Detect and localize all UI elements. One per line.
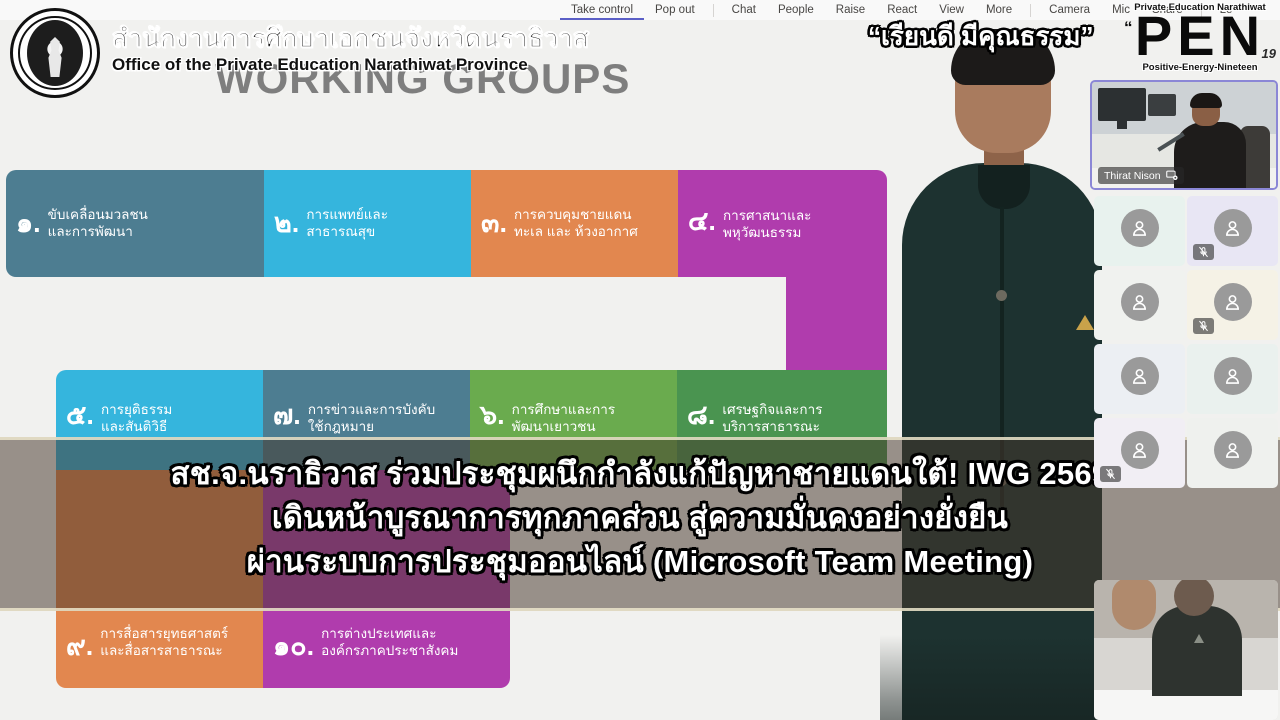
participant-video-tile[interactable] xyxy=(1094,580,1278,720)
pen-logo-superscript: 19 xyxy=(1262,46,1276,61)
presenter-cutout-image xyxy=(880,35,1110,720)
organization-name-english: Office of the Private Education Narathiw… xyxy=(112,55,528,75)
person-avatar-icon xyxy=(1214,283,1252,321)
caption-line-1: สช.จ.นราธิวาส ร่วมประชุมผนึกกำลังแก้ปัญห… xyxy=(0,452,1280,496)
working-group-label: การสื่อสารยุทธศาสตร์ และสื่อสารสาธารณะ xyxy=(100,626,228,660)
caption-text: สช.จ.นราธิวาส ร่วมประชุมผนึกกำลังแก้ปัญห… xyxy=(0,452,1280,584)
participant-tile[interactable] xyxy=(1094,196,1185,266)
working-group-number: ๓. xyxy=(481,210,507,237)
active-speaker-name-badge: Thirat Nison xyxy=(1098,167,1184,184)
thai-government-seal-icon xyxy=(10,8,100,98)
working-group-number: ๘. xyxy=(687,402,715,429)
slide-whitespace xyxy=(6,277,786,370)
caption-line-2: เดินหน้าบูรณาการทุกภาคส่วน สู่ความมั่นคง… xyxy=(0,496,1280,540)
organization-banner: สำนักงานการศึกษาเอกชนจังหวัดนราธิวาส Off… xyxy=(0,0,680,104)
working-group-number: ๔. xyxy=(688,208,716,235)
working-group-number: ๒. xyxy=(274,210,299,237)
slogan-text: “เรียนดี มีคุณธรรม” xyxy=(868,16,1094,57)
working-group-label: การต่างประเทศและ องค์กรภาคประชาสังคม xyxy=(321,626,458,660)
working-group-label: การยุติธรรม และสันติวิธี xyxy=(101,402,172,436)
mic-muted-icon xyxy=(1100,466,1121,482)
organization-name-thai: สำนักงานการศึกษาเอกชนจังหวัดนราธิวาส xyxy=(112,18,589,59)
meeting-stage: WORKING GROUPS ๑. ขับเคลื่อนมวลชน และการ… xyxy=(0,0,1280,720)
participant-tile[interactable] xyxy=(1094,418,1185,488)
working-group-number: ๑๐. xyxy=(273,633,314,660)
pen-logo-bottom-text: Positive-Energy-Nineteen xyxy=(1122,62,1278,73)
active-speaker-tile[interactable]: Thirat Nison xyxy=(1090,80,1278,190)
mic-muted-icon xyxy=(1193,318,1214,334)
participant-tile[interactable] xyxy=(1094,270,1185,340)
people-button[interactable]: People xyxy=(767,0,825,20)
working-group-number: ๗. xyxy=(273,402,301,429)
participant-tile[interactable] xyxy=(1187,270,1278,340)
working-group-label: การควบคุมชายแดน ทะเล และ ห้วงอากาศ xyxy=(514,207,638,241)
participant-tile[interactable] xyxy=(1187,196,1278,266)
toolbar-divider xyxy=(713,4,714,17)
active-speaker-name: Thirat Nison xyxy=(1104,170,1161,182)
working-group-label: การแพทย์และ สาธารณสุข xyxy=(306,207,388,241)
participants-rail: Thirat Nison xyxy=(1090,80,1280,720)
pen-logo: Private Education Narathiwat PEN “ 19 Po… xyxy=(1122,2,1278,80)
person-avatar-icon xyxy=(1214,431,1252,469)
person-avatar-icon xyxy=(1121,357,1159,395)
working-group-label: ขับเคลื่อนมวลชน และการพัฒนา xyxy=(48,207,148,241)
working-group-tile[interactable]: ๓. การควบคุมชายแดน ทะเล และ ห้วงอากาศ xyxy=(471,170,678,277)
person-avatar-icon xyxy=(1121,431,1159,469)
working-group-label: เศรษฐกิจและการ บริการสาธารณะ xyxy=(722,402,822,436)
working-group-number: ๑. xyxy=(16,210,41,237)
working-group-number: ๕. xyxy=(66,402,94,429)
person-avatar-icon xyxy=(1214,209,1252,247)
chat-button[interactable]: Chat xyxy=(721,0,767,20)
working-group-tile[interactable]: ๑. ขับเคลื่อนมวลชน และการพัฒนา xyxy=(6,170,264,277)
working-group-label: การศึกษาและการ พัฒนาเยาวชน xyxy=(512,402,615,436)
working-group-label: การข่าวและการบังคับ ใช้กฎหมาย xyxy=(308,402,435,436)
pen-logo-main-text: PEN xyxy=(1122,8,1278,64)
toolbar-divider xyxy=(1030,4,1031,17)
working-group-number: ๖. xyxy=(480,402,505,429)
working-group-label: การศาสนาและ พหุวัฒนธรรม xyxy=(723,208,811,242)
caption-line-3: ผ่านระบบการประชุมออนไลน์ (Microsoft Team… xyxy=(0,540,1280,584)
mic-muted-icon xyxy=(1193,244,1214,260)
pen-logo-quote-mark: “ xyxy=(1124,18,1133,38)
screen-share-icon xyxy=(1166,170,1178,181)
participant-tile[interactable] xyxy=(1187,418,1278,488)
person-avatar-icon xyxy=(1121,209,1159,247)
person-avatar-icon xyxy=(1121,283,1159,321)
person-avatar-icon xyxy=(1214,357,1252,395)
working-group-number: ๙. xyxy=(66,633,93,660)
participant-tile[interactable] xyxy=(1187,344,1278,414)
participant-tile[interactable] xyxy=(1094,344,1185,414)
working-group-tile[interactable]: ๒. การแพทย์และ สาธารณสุข xyxy=(264,170,471,277)
